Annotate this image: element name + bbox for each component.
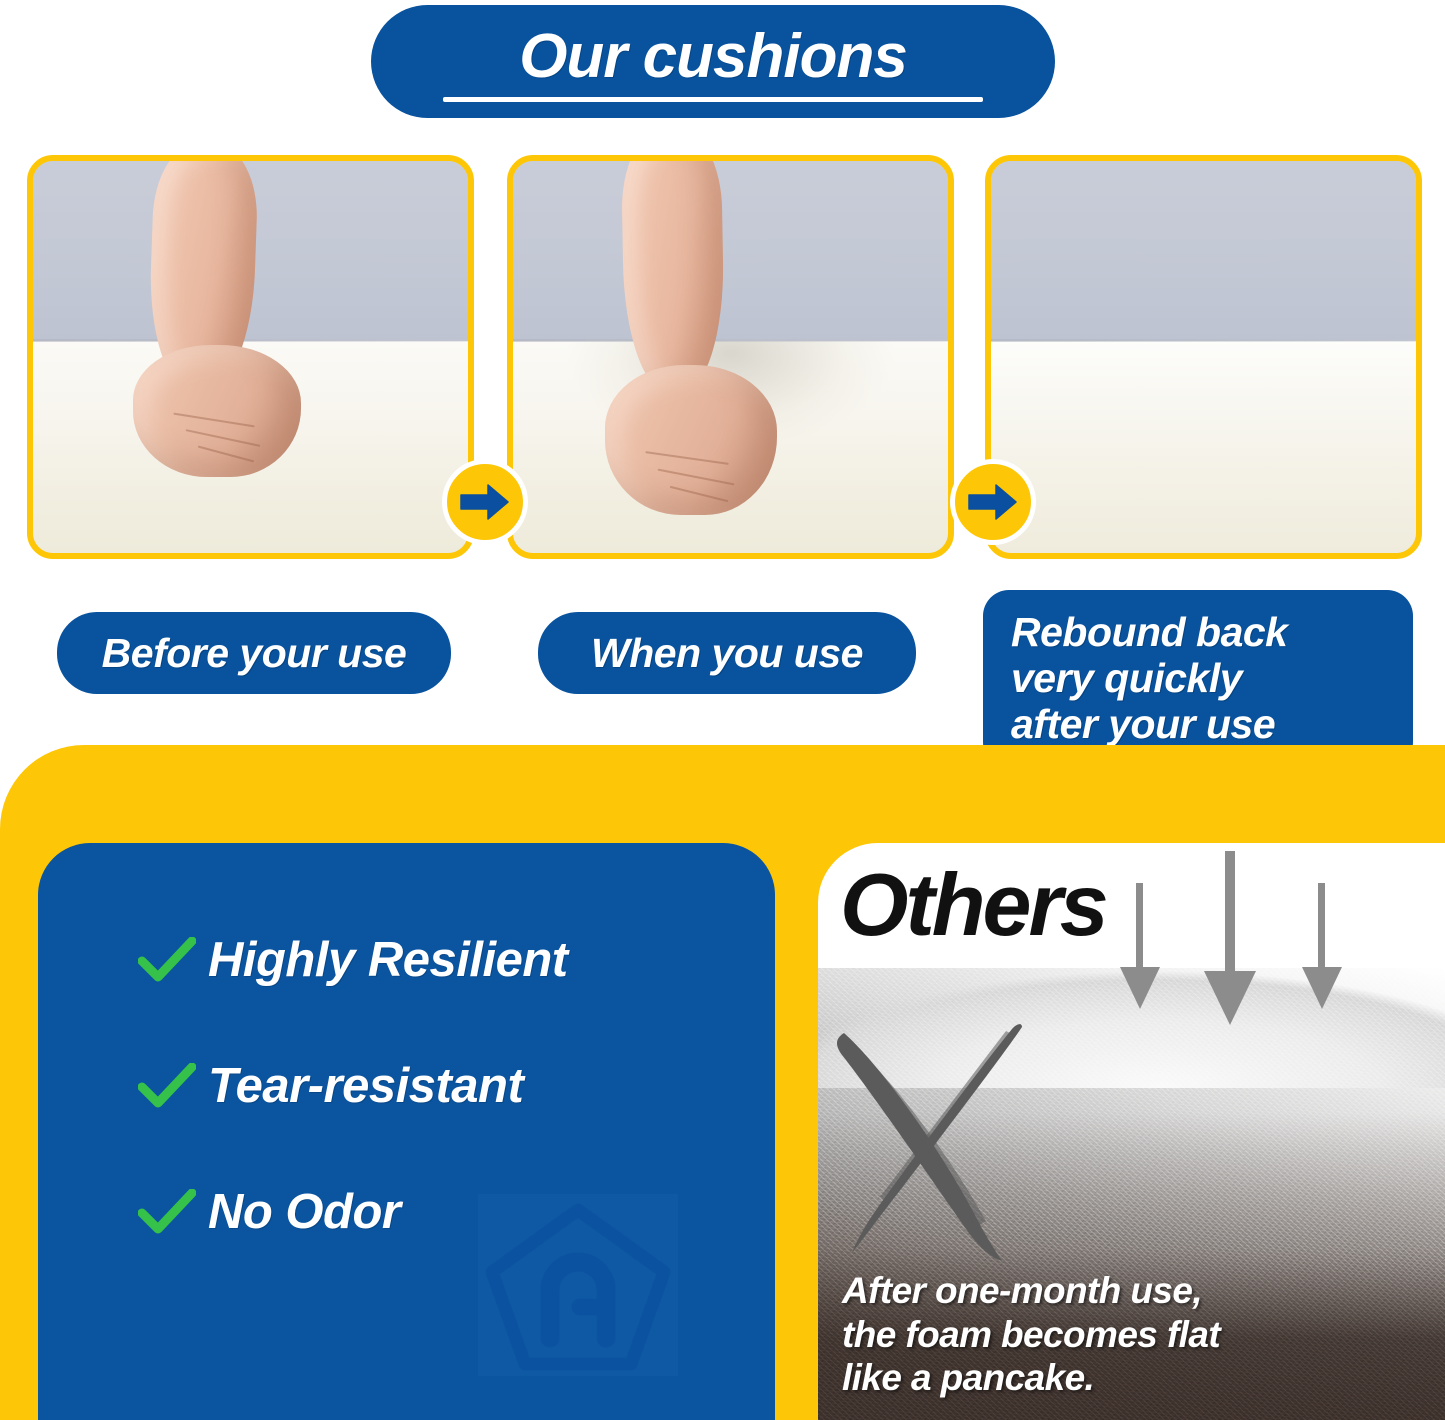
page-title: Our cushions <box>519 26 907 88</box>
title-underline <box>443 97 983 102</box>
header-band: Our cushions <box>0 0 1445 140</box>
caption-line-3: after your use <box>1011 702 1275 748</box>
caption-line-1: Rebound back <box>1011 610 1287 656</box>
foam-edge <box>33 339 468 342</box>
x-cross-icon <box>826 1021 1086 1271</box>
caption-text: Before your use <box>102 630 407 677</box>
feature-label: Tear-resistant <box>208 1058 523 1114</box>
foam-surface-flat <box>991 341 1416 553</box>
others-caption-line-2: the foam becomes flat <box>842 1313 1220 1357</box>
page-title-pill: Our cushions <box>371 5 1055 118</box>
features-list: Highly Resilient Tear-resistant No Odor <box>138 929 738 1307</box>
process-panels-row <box>0 155 1445 570</box>
scene-before-use <box>33 161 468 553</box>
check-icon <box>138 1189 196 1235</box>
feature-item: Tear-resistant <box>138 1055 738 1117</box>
feature-item: Highly Resilient <box>138 929 738 991</box>
process-step-3-photo <box>985 155 1422 559</box>
fist <box>133 345 301 477</box>
feature-item: No Odor <box>138 1181 738 1243</box>
arrow-down-icon <box>1120 883 1160 1009</box>
arrow-down-icon-group <box>1108 849 1408 1029</box>
scene-rebounded <box>991 161 1416 553</box>
feature-label: Highly Resilient <box>208 932 568 988</box>
others-caption-line-1: After one-month use, <box>842 1269 1220 1313</box>
caption-text: When you use <box>591 630 863 677</box>
features-card: Highly Resilient Tear-resistant No Odor <box>38 843 775 1420</box>
foam-edge <box>991 339 1416 342</box>
others-title: Others <box>840 861 1106 949</box>
process-step-1-caption: Before your use <box>57 612 451 694</box>
check-icon <box>138 1063 196 1109</box>
background-wall <box>991 161 1416 341</box>
arrow-right-icon <box>950 459 1036 545</box>
background-wall <box>513 161 948 341</box>
arrow-down-icon <box>1302 883 1342 1009</box>
process-step-3-caption: Rebound back very quickly after your use <box>983 590 1413 768</box>
arrow-down-icon <box>1204 851 1256 1025</box>
check-icon <box>138 937 196 983</box>
feature-label: No Odor <box>208 1184 400 1240</box>
process-step-2-caption: When you use <box>538 612 916 694</box>
others-comparison-panel: Others After one-month use, the foam bec… <box>818 843 1445 1420</box>
others-caption: After one-month use, the foam becomes fl… <box>842 1269 1220 1400</box>
process-step-2-photo <box>507 155 954 559</box>
arrow-right-icon <box>442 459 528 545</box>
foam-edge <box>513 339 948 342</box>
scene-when-using <box>513 161 948 553</box>
others-caption-line-3: like a pancake. <box>842 1356 1220 1400</box>
caption-line-2: very quickly <box>1011 656 1242 702</box>
process-step-1-photo <box>27 155 474 559</box>
